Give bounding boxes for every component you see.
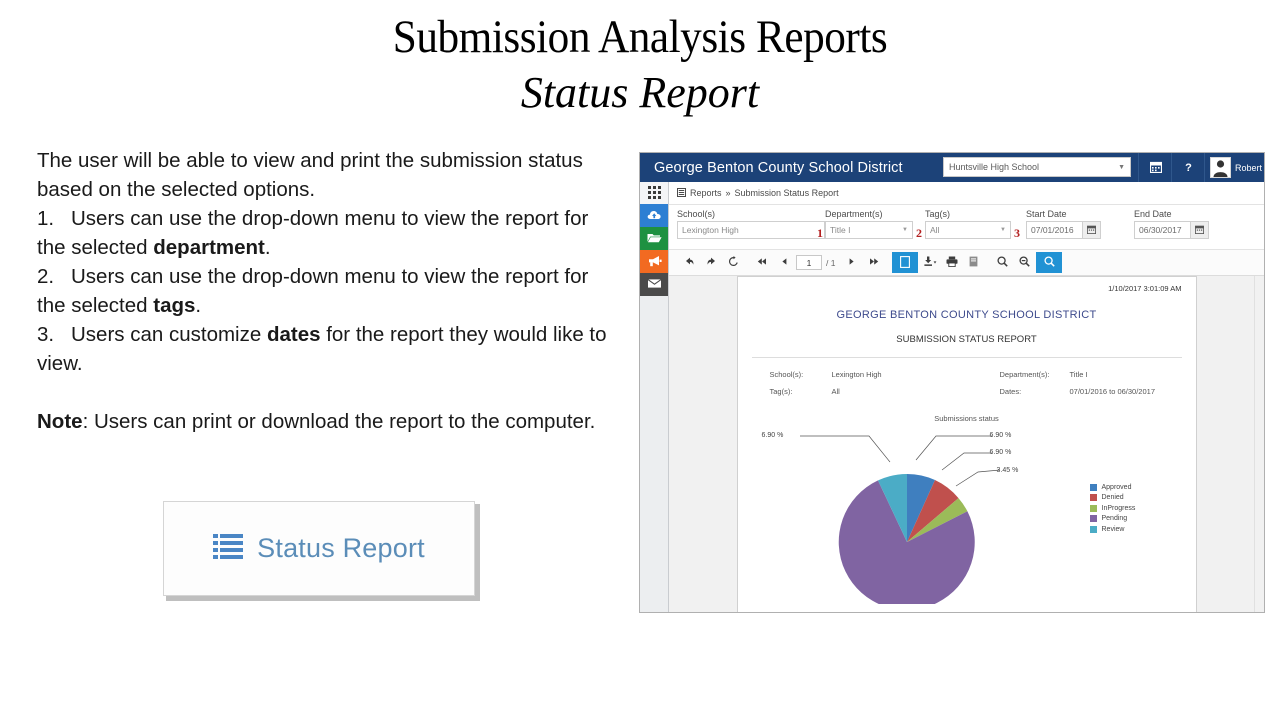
legend-item: Approved [1090, 482, 1136, 493]
report-param-dates-value: 07/01/2016 to 06/30/2017 [1070, 387, 1156, 396]
marker-2: 2 [916, 226, 922, 241]
report-param-school-key: School(s): [770, 370, 804, 379]
department-filter: Department(s) Title I ▼ [825, 209, 913, 239]
numbered-item-3-bold: dates [267, 323, 321, 346]
slide-title-main: Submission Analysis Reports [51, 8, 1229, 66]
folder-icon [647, 232, 662, 246]
report-param-row: School(s): Lexington High Department(s):… [752, 370, 1182, 387]
report-param-department-key: Department(s): [1000, 370, 1050, 379]
tag-filter-label: Tag(s) [925, 209, 1011, 219]
legend-item: Review [1090, 524, 1136, 535]
legend-item: InProgress [1090, 503, 1136, 514]
report-param-school-value: Lexington High [832, 370, 882, 379]
username-label: Robert [1235, 163, 1262, 173]
prev-page-icon [781, 257, 788, 268]
search-icon [1044, 256, 1055, 269]
pie-chart-graphic [764, 414, 1064, 604]
submissions-status-chart: Submissions status 6.90 % 6.90 % 6.90 % … [752, 414, 1182, 604]
sidebar-item-files[interactable] [640, 227, 668, 250]
user-menu[interactable]: Robert [1204, 153, 1265, 182]
numbered-item-2-text: Users can use the drop-down menu to view… [37, 265, 588, 317]
app-header: George Benton County School District Hun… [640, 153, 1264, 182]
legend-label-approved: Approved [1102, 484, 1132, 491]
document-icon [969, 256, 978, 269]
report-param-tag-key: Tag(s): [770, 387, 793, 396]
slide-title: Submission Analysis Reports Status Repor… [0, 8, 1280, 120]
school-select-dropdown[interactable]: Huntsville High School ▼ [943, 157, 1131, 177]
help-button[interactable]: ? [1171, 153, 1205, 182]
legend-swatch-review [1090, 526, 1097, 533]
report-param-department-value: Title I [1070, 370, 1088, 379]
app-main-panel: Reports » Submission Status Report Schoo… [669, 182, 1264, 613]
start-date-calendar-button[interactable] [1082, 221, 1101, 239]
numbered-item-2-number: 2. [37, 262, 71, 291]
numbered-item-3-text: Users can customize [71, 323, 267, 346]
school-filter-value: Lexington High [682, 225, 739, 235]
legend-label-inprogress: InProgress [1102, 505, 1136, 512]
last-page-icon [868, 257, 879, 268]
end-date-label: End Date [1134, 209, 1209, 219]
calendar-button[interactable] [1138, 153, 1172, 182]
report-param-tag-value: All [832, 387, 840, 396]
zoom-in-button[interactable] [992, 252, 1013, 273]
legend-label-pending: Pending [1102, 515, 1128, 522]
breadcrumb-root[interactable]: Reports [690, 188, 722, 198]
report-param-row: Tag(s): All Dates: 07/01/2016 to 06/30/2… [752, 387, 1182, 404]
numbered-item-3: 3.Users can customize dates for the repo… [37, 320, 622, 378]
document-button[interactable] [963, 252, 984, 273]
report-district-heading: GEORGE BENTON COUNTY SCHOOL DISTRICT [752, 309, 1182, 321]
intro-line-1: The user will be able to view and print … [37, 149, 522, 172]
numbered-item-1-bold: department [153, 236, 265, 259]
department-filter-label: Department(s) [825, 209, 913, 219]
school-select-value: Huntsville High School [949, 162, 1039, 172]
first-page-icon [757, 257, 768, 268]
numbered-item-2: 2.Users can use the drop-down menu to vi… [37, 262, 622, 320]
zoom-out-button[interactable] [1014, 252, 1035, 273]
print-icon [946, 256, 958, 269]
start-date-input[interactable]: 07/01/2016 [1026, 221, 1082, 239]
sidebar-item-grid-menu[interactable] [640, 182, 668, 204]
print-button[interactable] [941, 252, 962, 273]
forward-button[interactable] [701, 252, 722, 273]
breadcrumb-separator: » [726, 188, 731, 198]
report-param-dates-key: Dates: [1000, 387, 1022, 396]
back-button[interactable] [679, 252, 700, 273]
page-number-input[interactable]: 1 [796, 255, 822, 270]
sidebar-item-announcements[interactable] [640, 250, 668, 273]
legend-item: Denied [1090, 493, 1136, 504]
first-page-button[interactable] [752, 252, 773, 273]
tag-filter-value: All [930, 225, 939, 235]
legend-label-denied: Denied [1102, 494, 1124, 501]
status-report-button-label: Status Report [257, 533, 425, 564]
legend-item: Pending [1090, 514, 1136, 525]
numbered-item-2-tail: . [195, 294, 201, 317]
end-date-input[interactable]: 06/30/2017 [1134, 221, 1190, 239]
breadcrumb: Reports » Submission Status Report [669, 182, 1264, 205]
start-date-label: Start Date [1026, 209, 1101, 219]
next-page-icon [848, 257, 855, 268]
note-label: Note [37, 410, 83, 433]
search-button[interactable] [1036, 252, 1062, 273]
intro-paragraph: The user will be able to view and print … [37, 146, 622, 204]
start-date-value: 07/01/2016 [1031, 225, 1074, 235]
zoom-out-icon [1019, 256, 1030, 269]
marker-1: 1 [817, 226, 823, 241]
sidebar-item-upload[interactable] [640, 204, 668, 227]
report-scrollbar[interactable] [1254, 276, 1264, 613]
numbered-item-1-text: Users can use the drop-down menu to view… [37, 207, 588, 259]
cloud-upload-icon [647, 209, 662, 223]
list-icon [213, 533, 243, 564]
report-icon [677, 188, 686, 199]
report-parameters: School(s): Lexington High Department(s):… [752, 370, 1182, 404]
report-toolbar: 1 / 1 [669, 250, 1264, 276]
refresh-icon [728, 256, 739, 269]
department-filter-value: Title I [830, 225, 850, 235]
slide-title-subtitle: Status Report [0, 66, 1280, 120]
numbered-item-1-tail: . [265, 236, 271, 259]
legend-swatch-inprogress [1090, 505, 1097, 512]
calendar-icon [1195, 225, 1204, 236]
chevron-down-icon: ▼ [1000, 227, 1006, 233]
report-page: 1/10/2017 3:01:09 AM GEORGE BENTON COUNT… [737, 276, 1197, 613]
numbered-item-1: 1.Users can use the drop-down menu to vi… [37, 204, 622, 262]
end-date-filter: End Date 06/30/2017 [1134, 209, 1209, 239]
calendar-icon [1087, 225, 1096, 236]
avatar [1210, 157, 1231, 178]
report-timestamp: 1/10/2017 3:01:09 AM [752, 277, 1182, 293]
legend-swatch-denied [1090, 494, 1097, 501]
numbered-item-3-number: 3. [37, 320, 71, 349]
page-view-icon [900, 256, 910, 270]
help-icon: ? [1185, 162, 1192, 174]
legend-swatch-approved [1090, 484, 1097, 491]
end-date-calendar-button[interactable] [1190, 221, 1209, 239]
numbered-item-2-bold: tags [153, 294, 195, 317]
refresh-button[interactable] [723, 252, 744, 273]
megaphone-icon [647, 255, 662, 269]
description-text-block: The user will be able to view and print … [37, 146, 622, 436]
status-report-button[interactable]: Status Report [163, 501, 475, 596]
next-page-button[interactable] [841, 252, 862, 273]
start-date-filter: Start Date 07/01/2016 [1026, 209, 1101, 239]
note-text: : Users can print or download the report… [83, 410, 596, 433]
application-screenshot: George Benton County School District Hun… [639, 152, 1265, 613]
chevron-down-icon: ▼ [1118, 164, 1125, 171]
legend-swatch-pending [1090, 515, 1097, 522]
breadcrumb-current: Submission Status Report [735, 188, 839, 198]
end-date-value: 06/30/2017 [1139, 225, 1182, 235]
back-icon [684, 256, 695, 269]
chevron-down-icon: ▼ [902, 227, 908, 233]
sidebar-item-mail[interactable] [640, 273, 668, 296]
page-total-label: / 1 [826, 258, 835, 268]
app-body: Reports » Submission Status Report Schoo… [640, 182, 1264, 613]
school-filter-label: School(s) [677, 209, 825, 219]
marker-3: 3 [1014, 226, 1020, 241]
note-paragraph: Note: Users can print or download the re… [37, 407, 622, 436]
chart-legend: Approved Denied InProgress [1090, 482, 1136, 535]
previous-page-button[interactable] [774, 252, 795, 273]
zoom-in-icon [997, 256, 1008, 269]
numbered-item-1-number: 1. [37, 204, 71, 233]
export-button[interactable] [919, 252, 940, 273]
app-sidebar [640, 182, 669, 613]
last-page-button[interactable] [863, 252, 884, 273]
calendar-icon [1150, 161, 1162, 175]
legend-label-review: Review [1102, 526, 1125, 533]
tag-filter-dropdown[interactable]: All ▼ [925, 221, 1011, 239]
app-brand-title: George Benton County School District [654, 160, 903, 176]
department-filter-dropdown[interactable]: Title I ▼ [825, 221, 913, 239]
mail-icon [647, 278, 662, 291]
report-viewer: 1/10/2017 3:01:09 AM GEORGE BENTON COUNT… [669, 276, 1264, 613]
filter-bar: School(s) Lexington High 1 Department(s)… [669, 205, 1264, 250]
school-filter-input[interactable]: Lexington High [677, 221, 825, 239]
page-view-button[interactable] [892, 252, 918, 273]
export-icon [923, 256, 937, 269]
school-filter: School(s) Lexington High [677, 209, 825, 239]
forward-icon [706, 256, 717, 269]
grid-menu-icon [648, 186, 661, 201]
report-title-heading: SUBMISSION STATUS REPORT [752, 334, 1182, 358]
tag-filter: Tag(s) All ▼ [925, 209, 1011, 239]
